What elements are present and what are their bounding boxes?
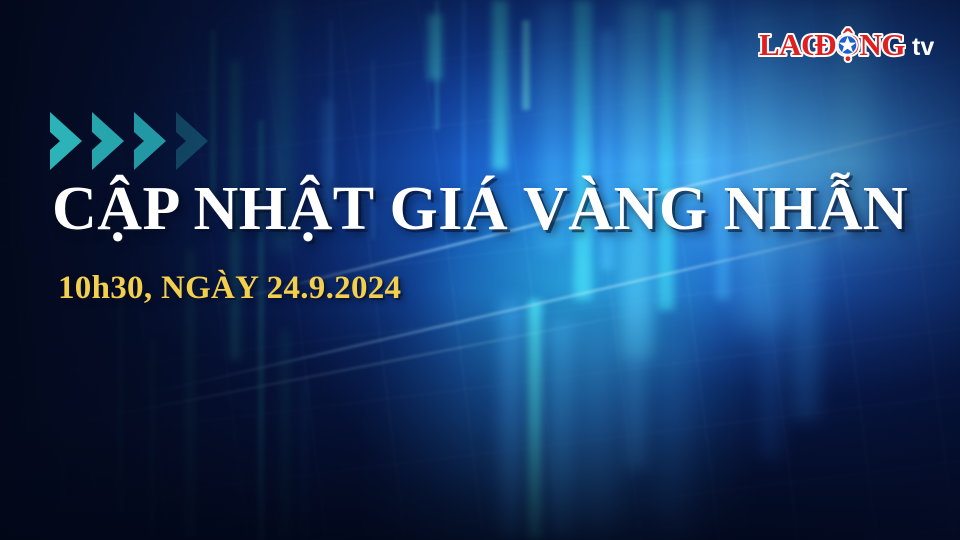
laodong-wordmark-icon: LAO LAO ĐỘNG ĐỘNG	[758, 24, 906, 68]
star-badge-icon	[838, 35, 857, 54]
chevron-arrow-group	[48, 110, 216, 172]
timestamp-subtitle: 10h30, NGÀY 24.9.2024	[58, 272, 401, 305]
chevron-right-icon-ghost	[174, 110, 216, 172]
chevron-right-icon-2	[90, 110, 132, 172]
laodong-tv-logo[interactable]: LAO LAO ĐỘNG ĐỘNG tv	[758, 24, 946, 68]
headline-title: CẬP NHẬT GIÁ VÀNG NHẪN	[52, 178, 908, 240]
broadcast-graphic-card: CẬP NHẬT GIÁ VÀNG NHẪN 10h30, NGÀY 24.9.…	[0, 0, 960, 540]
chevron-right-icon-1	[48, 110, 90, 172]
chevron-right-icon-3	[132, 110, 174, 172]
svg-text:tv: tv	[912, 33, 934, 61]
tv-suffix-icon: tv	[912, 30, 946, 62]
svg-text:ĐỘNG: ĐỘNG	[814, 27, 905, 62]
